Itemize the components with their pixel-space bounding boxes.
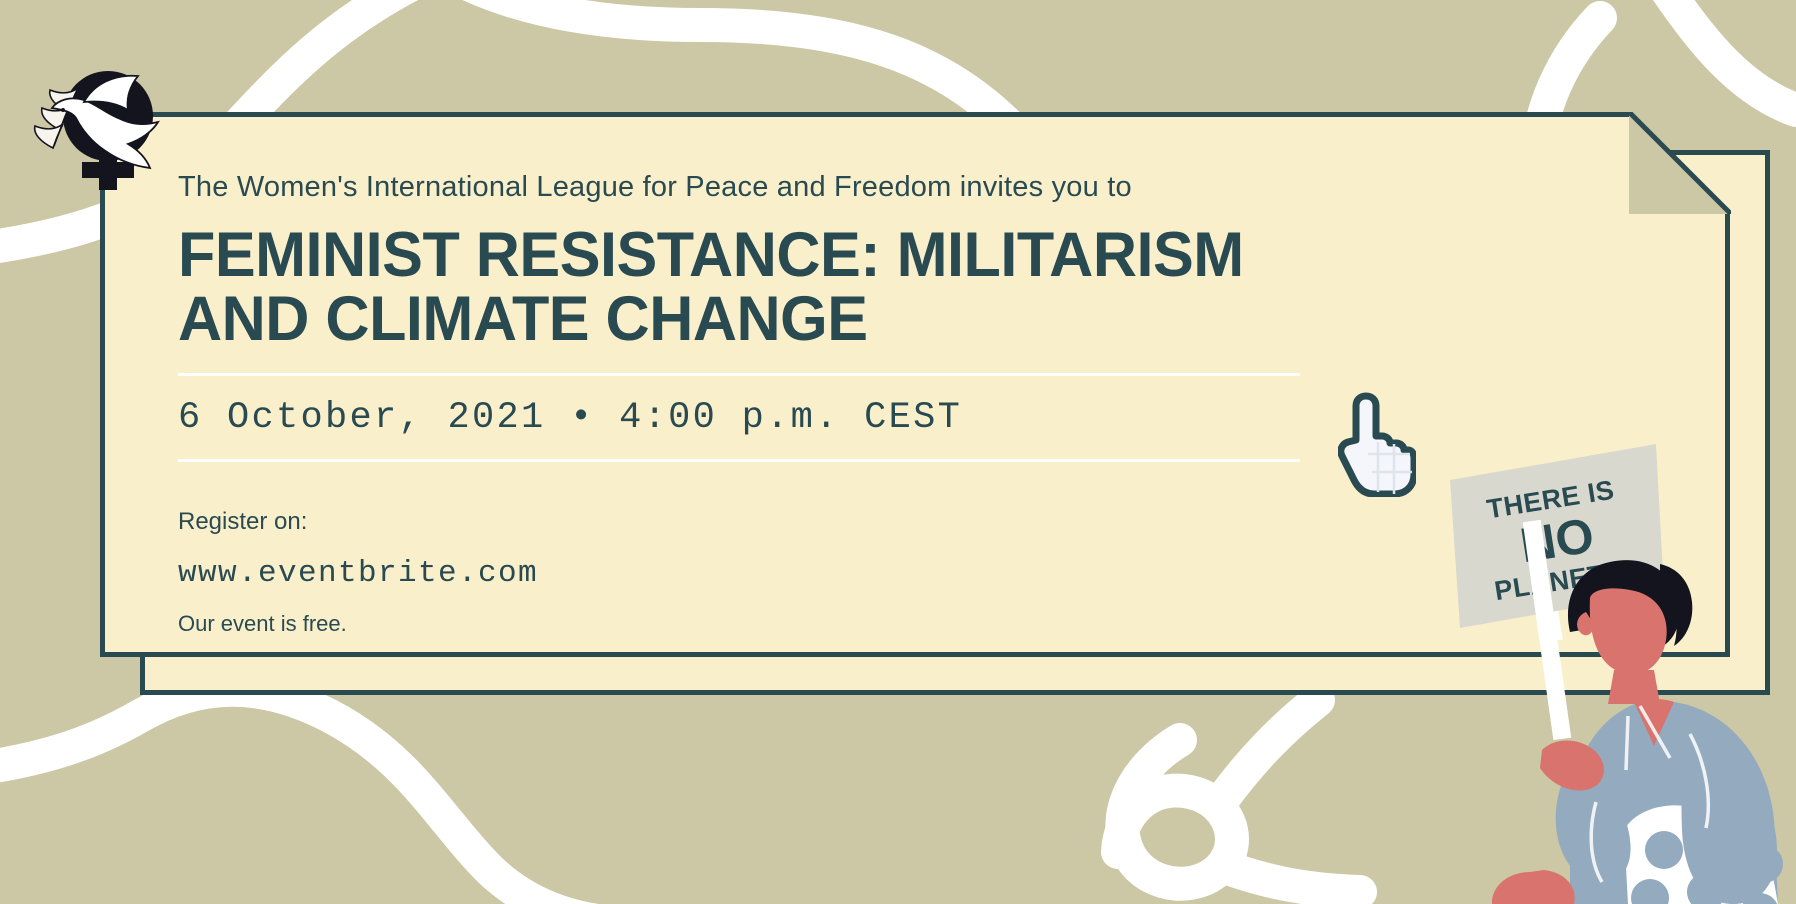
invitation-content: The Women's International League for Pea… <box>178 170 1378 635</box>
divider-above-date <box>178 373 1300 376</box>
woman-arm-right <box>1681 726 1776 904</box>
pointing-hand-cursor-icon <box>1338 392 1416 497</box>
organizer-kicker: The Women's International League for Pea… <box>178 170 1378 205</box>
venus-crossbar <box>82 162 134 178</box>
woman-hand-lower <box>1492 870 1575 904</box>
free-event-note: Our event is free. <box>178 613 1378 635</box>
woman-neck <box>1608 670 1660 704</box>
olive-leaf-c <box>35 124 63 148</box>
folded-corner-icon <box>1629 112 1731 214</box>
divider-below-date <box>178 459 1300 462</box>
poster-canvas: The Women's International League for Pea… <box>0 0 1796 904</box>
event-datetime: 6 October, 2021 • 4:00 p.m. CEST <box>178 400 1378 437</box>
woman-protester-illustration <box>1478 520 1796 904</box>
dove-peace-logo-icon <box>26 54 186 194</box>
register-label: Register on: <box>178 510 1378 534</box>
event-title: FEMINIST RESISTANCE: MILITARISM AND CLIM… <box>178 223 1342 352</box>
held-pole <box>1523 520 1571 740</box>
dove-eye <box>61 108 65 112</box>
register-url[interactable]: www.eventbrite.com <box>178 558 1378 589</box>
